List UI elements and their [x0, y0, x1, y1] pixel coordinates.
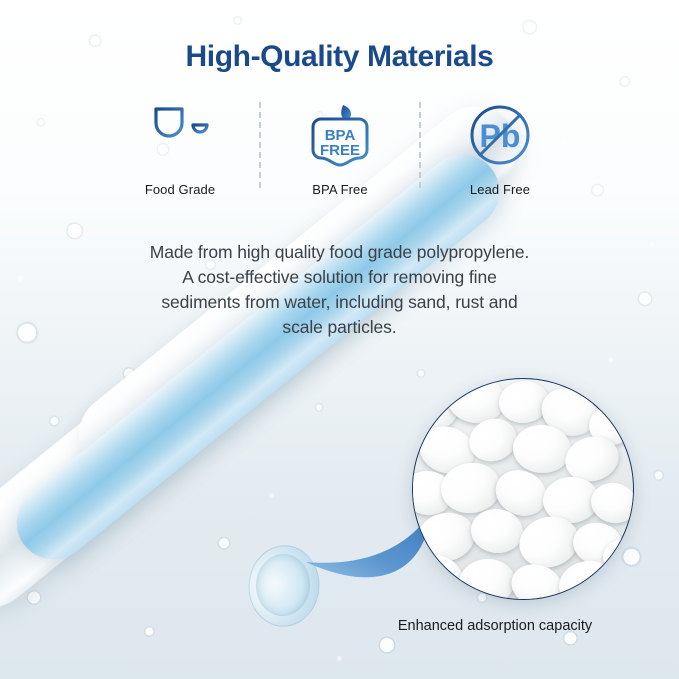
badge-divider-2 [419, 102, 421, 188]
badge-label-bpa-free: BPA Free [312, 182, 367, 197]
glass-and-fork-icon [150, 100, 210, 170]
description-line-4: scale particles. [95, 315, 584, 340]
polypropylene-pellets-view [412, 378, 634, 600]
feature-badge-row: Food Grade BPA FREE BPA F [120, 100, 560, 197]
bpa-icon-text-line2: FREE [320, 142, 360, 159]
badge-bpa-free: BPA FREE BPA Free [280, 100, 400, 197]
no-lead-pb-icon: Pb [468, 100, 532, 170]
badge-lead-free: Pb Lead Free [440, 100, 560, 197]
magnifier-lens [412, 378, 634, 600]
description-line-3: sediments from water, including sand, ru… [95, 290, 584, 315]
badge-label-lead-free: Lead Free [470, 182, 530, 197]
infographic-canvas: High-Quality Materials [0, 0, 679, 679]
badge-food-grade: Food Grade [120, 100, 240, 197]
page-title: High-Quality Materials [0, 40, 679, 74]
badge-label-food-grade: Food Grade [145, 182, 215, 197]
description-line-1: Made from high quality food grade polypr… [95, 240, 584, 265]
bpa-free-droplet-icon: BPA FREE [308, 100, 372, 170]
magnifier-caption: Enhanced adsorption capacity [330, 618, 660, 634]
badge-divider-1 [259, 102, 261, 188]
description-paragraph: Made from high quality food grade polypr… [95, 240, 584, 340]
description-line-2: A cost-effective solution for removing f… [95, 265, 584, 290]
